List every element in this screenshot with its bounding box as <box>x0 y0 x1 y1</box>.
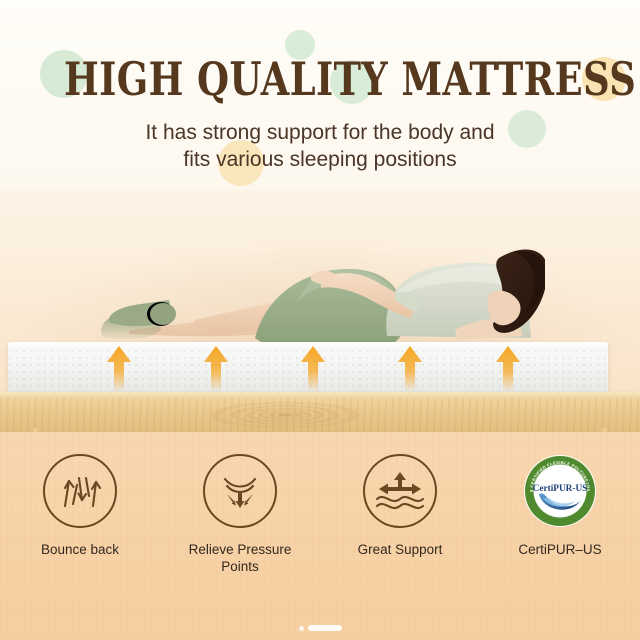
subtitle-line-2: fits various sleeping positions <box>0 147 640 174</box>
support-arrow <box>397 346 423 392</box>
support-arrow <box>495 346 521 392</box>
carousel-indicator[interactable] <box>0 625 640 631</box>
support-arrow <box>106 346 132 392</box>
feature-great-support[interactable]: Great Support <box>320 454 480 576</box>
feature-label-line-2: Points <box>160 559 320 576</box>
page-title: HIGH QUALITY MATTRESS <box>64 56 576 102</box>
support-arrow <box>300 346 326 392</box>
feature-certipur-us[interactable]: CONTAINS CERTIFIED FLEXIBLE POLYURETHANE… <box>480 454 640 576</box>
header: HIGH QUALITY MATTRESS It has strong supp… <box>0 0 640 174</box>
features-panel: Bounce back <box>0 432 640 640</box>
feature-row: Bounce back <box>0 454 640 576</box>
feature-label: CertiPUR–US <box>480 542 640 559</box>
feature-label: Relieve Pressure Points <box>160 542 320 576</box>
feature-bounce-back[interactable]: Bounce back <box>0 454 160 576</box>
wood-grain <box>170 398 400 432</box>
product-poster: HIGH QUALITY MATTRESS It has strong supp… <box>0 0 640 640</box>
bed-scene <box>0 190 640 440</box>
svg-text:CertiPUR-US: CertiPUR-US <box>533 484 588 494</box>
pressure-relief-icon <box>203 454 277 528</box>
support-arrow <box>203 346 229 392</box>
certipur-badge-icon: CONTAINS CERTIFIED FLEXIBLE POLYURETHANE… <box>523 454 597 528</box>
wooden-bed-frame <box>0 392 640 436</box>
feature-label-line-1: Relieve Pressure <box>160 542 320 559</box>
feature-label: Bounce back <box>0 542 160 559</box>
carousel-active-bar[interactable] <box>308 625 342 631</box>
feature-relieve-pressure-points[interactable]: Relieve Pressure Points <box>160 454 320 576</box>
svg-text:™: ™ <box>587 482 591 486</box>
carousel-dot[interactable] <box>299 626 304 631</box>
page-subtitle: It has strong support for the body and f… <box>0 120 640 174</box>
support-arrows-icon <box>363 454 437 528</box>
subtitle-line-1: It has strong support for the body and <box>0 120 640 147</box>
woman-lying-on-side <box>95 234 545 346</box>
feature-label: Great Support <box>320 542 480 559</box>
bounce-arrows-icon <box>43 454 117 528</box>
